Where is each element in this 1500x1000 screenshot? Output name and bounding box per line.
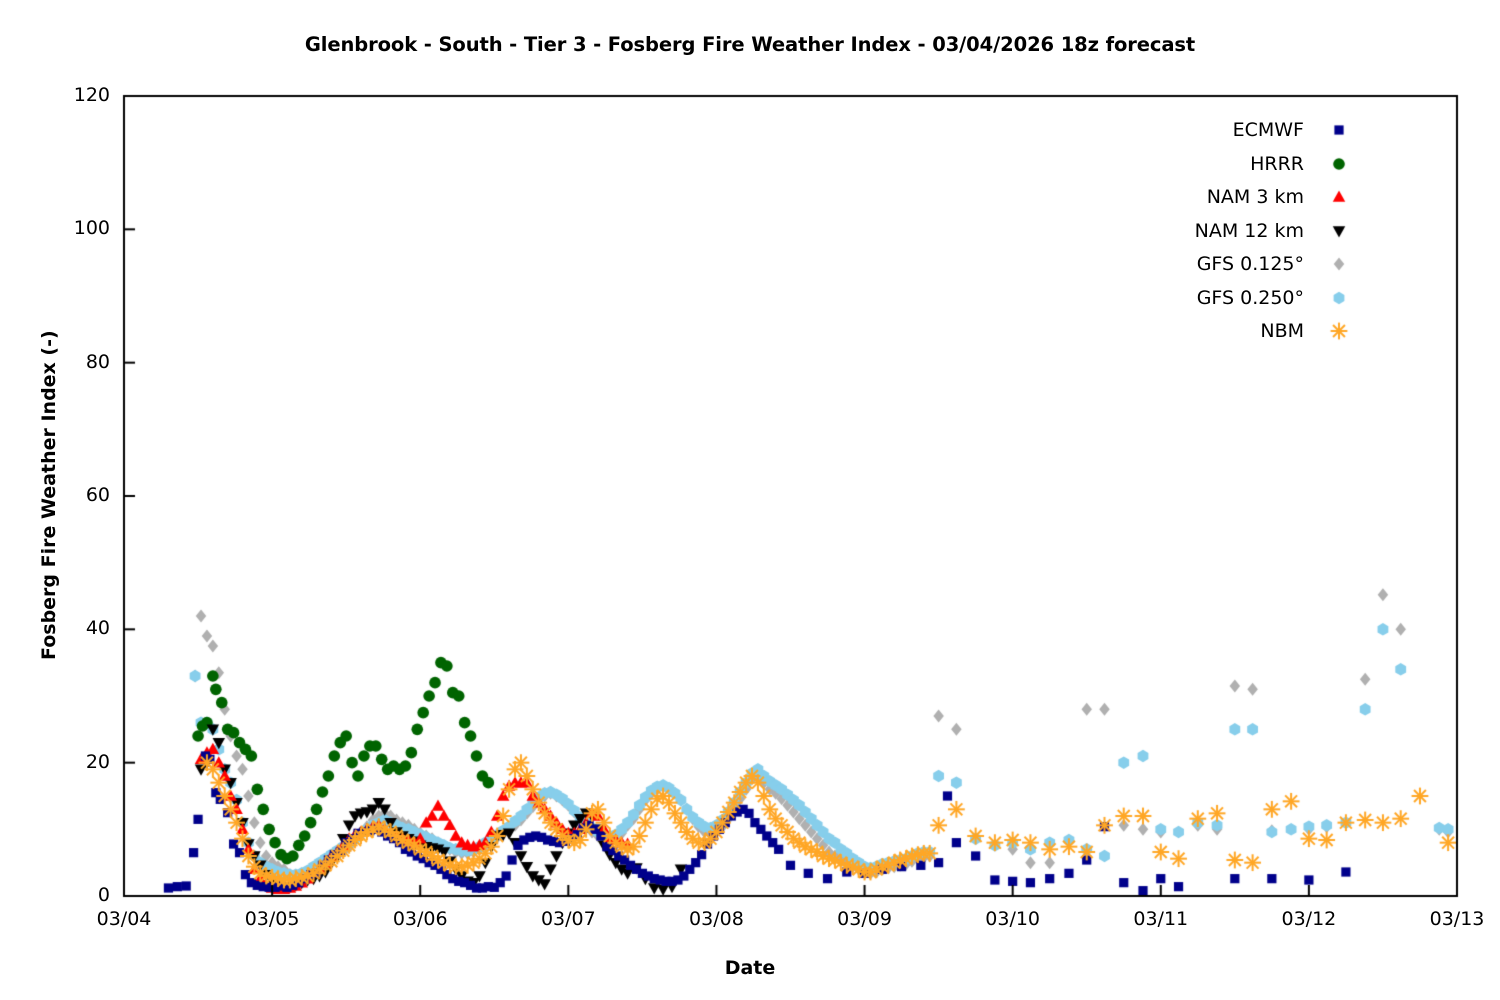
- legend-marker-hexagon-icon: [1326, 285, 1352, 311]
- legend-marker-triangle-down-icon: [1326, 218, 1352, 244]
- legend-marker-square-icon: [1326, 117, 1352, 143]
- legend-item-gfs0125[interactable]: GFS 0.125°: [1092, 250, 1352, 278]
- legend-item-nam3[interactable]: NAM 3 km: [1092, 183, 1352, 211]
- y-tick-label: 60: [30, 484, 110, 506]
- chart-figure: Glenbrook - South - Tier 3 - Fosberg Fir…: [0, 0, 1500, 1000]
- y-tick-label: 20: [30, 751, 110, 773]
- legend-label: GFS 0.250°: [1197, 287, 1304, 309]
- x-tick-label: 03/12: [1249, 908, 1369, 930]
- y-tick-label: 40: [30, 617, 110, 639]
- y-tick-label: 0: [30, 884, 110, 906]
- legend-label: GFS 0.125°: [1197, 253, 1304, 275]
- y-tick-label: 100: [30, 217, 110, 239]
- x-tick-label: 03/04: [64, 908, 184, 930]
- legend-label: NBM: [1260, 320, 1304, 342]
- x-tick-label: 03/08: [656, 908, 776, 930]
- legend-marker-circle-icon: [1326, 151, 1352, 177]
- x-tick-label: 03/06: [360, 908, 480, 930]
- legend-item-nbm[interactable]: NBM: [1092, 317, 1352, 345]
- legend-label: NAM 12 km: [1195, 220, 1304, 242]
- y-tick-label: 80: [30, 351, 110, 373]
- x-tick-label: 03/13: [1397, 908, 1500, 930]
- legend-label: NAM 3 km: [1207, 186, 1304, 208]
- legend-marker-asterisk-icon: [1326, 318, 1352, 344]
- y-tick-label: 120: [30, 84, 110, 106]
- legend-marker-triangle-up-icon: [1326, 184, 1352, 210]
- x-tick-label: 03/05: [212, 908, 332, 930]
- legend-item-ecmwf[interactable]: ECMWF: [1092, 116, 1352, 144]
- legend-item-gfs0250[interactable]: GFS 0.250°: [1092, 284, 1352, 312]
- legend-label: ECMWF: [1233, 119, 1304, 141]
- x-axis-label: Date: [0, 957, 1500, 979]
- legend-marker-diamond-icon: [1326, 251, 1352, 277]
- legend-item-nam12[interactable]: NAM 12 km: [1092, 217, 1352, 245]
- x-tick-label: 03/11: [1101, 908, 1221, 930]
- x-tick-label: 03/09: [805, 908, 925, 930]
- legend-label: HRRR: [1250, 153, 1304, 175]
- page-title: Glenbrook - South - Tier 3 - Fosberg Fir…: [0, 33, 1500, 56]
- x-tick-label: 03/10: [953, 908, 1073, 930]
- legend-item-hrrr[interactable]: HRRR: [1092, 150, 1352, 178]
- x-tick-label: 03/07: [508, 908, 628, 930]
